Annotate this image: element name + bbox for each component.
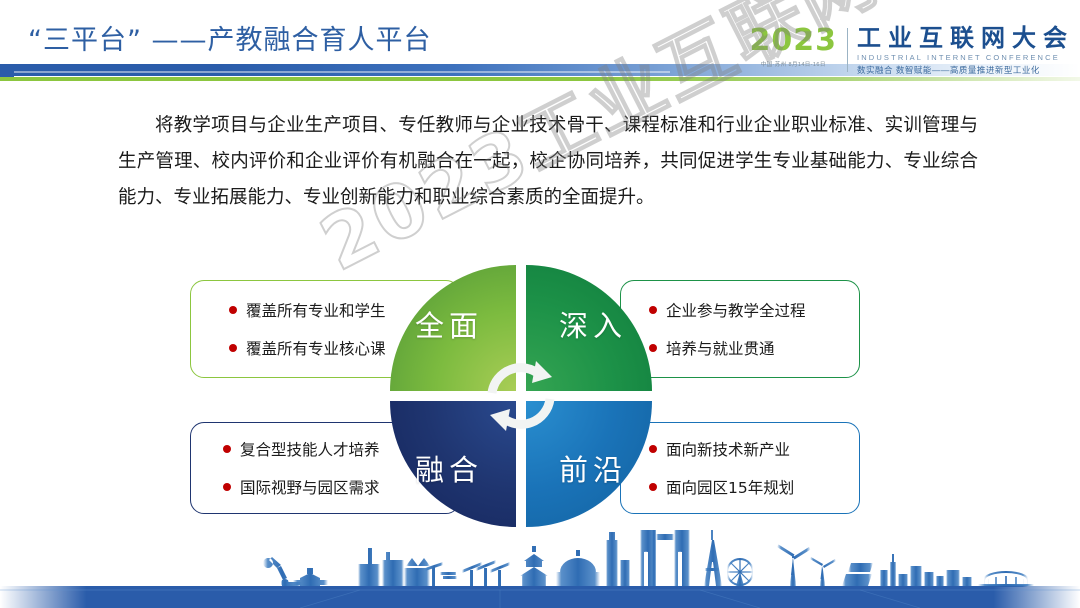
list-item-label: 企业参与教学全过程	[666, 299, 806, 321]
bullet-dot-icon	[229, 344, 237, 352]
quadrant-wheel: 全面 深入 融合 前沿	[390, 265, 652, 527]
bullet-dot-icon	[223, 483, 231, 491]
logo-tagline: 数实融合 数智赋能——高质量推进新型工业化	[857, 64, 1074, 76]
city-skyline-decoration	[0, 528, 1080, 608]
bullet-dot-icon	[229, 306, 237, 314]
logo-date: 中国·苏州 8月14日-16日	[750, 60, 838, 68]
logo-divider	[847, 28, 848, 72]
conference-logo: 2023 中国·苏州 8月14日-16日 工业互联网大会 INDUSTRIAL …	[750, 26, 1075, 76]
list-item-label: 国际视野与园区需求	[240, 476, 380, 498]
list-item-label: 培养与就业贯通	[666, 337, 775, 359]
body-paragraph: 将教学项目与企业生产项目、专任教师与企业技术骨干、课程标准和行业企业职业标准、实…	[118, 108, 978, 216]
quadrant-shenru[interactable]: 深入	[526, 265, 652, 391]
quadrant-quanmian[interactable]: 全面	[390, 265, 516, 391]
list-item: 企业参与教学全过程	[649, 299, 845, 321]
list-item: 面向园区15年规划	[649, 476, 845, 498]
logo-name-cn: 工业互联网大会	[857, 26, 1074, 51]
logo-name-en: INDUSTRIAL INTERNET CONFERENCE	[857, 53, 1074, 62]
presentation-slide: “三平台” ——产教融合育人平台 2023 中国·苏州 8月14日-16日 工业…	[0, 0, 1080, 608]
quadrant-label: 融合	[415, 447, 483, 489]
quadrant-label: 前沿	[559, 447, 627, 489]
logo-name-block: 工业互联网大会 INDUSTRIAL INTERNET CONFERENCE 数…	[857, 26, 1074, 76]
list-item-label: 面向园区15年规划	[666, 476, 794, 498]
list-item-label: 覆盖所有专业核心课	[246, 337, 386, 359]
header-rule-green	[0, 77, 1080, 81]
list-item-label: 面向新技术新产业	[666, 438, 790, 460]
quadrant-label: 全面	[415, 303, 483, 345]
footer-band	[0, 586, 1080, 608]
bullet-dot-icon	[223, 445, 231, 453]
page-title: “三平台” ——产教融合育人平台	[28, 18, 432, 57]
list-item-label: 覆盖所有专业和学生	[246, 299, 386, 321]
callout-shenru: 企业参与教学全过程 培养与就业贯通	[620, 280, 860, 378]
four-quadrant-diagram: 覆盖所有专业和学生 覆盖所有专业核心课 企业参与教学全过程 培养与就业贯通 复合…	[0, 258, 1080, 538]
list-item-label: 复合型技能人才培养	[240, 438, 380, 460]
list-item: 培养与就业贯通	[649, 337, 845, 359]
list-item: 面向新技术新产业	[649, 438, 845, 460]
callout-qianyan: 面向新技术新产业 面向园区15年规划	[620, 422, 860, 514]
quadrant-qianyan[interactable]: 前沿	[526, 401, 652, 527]
quadrant-ronghe[interactable]: 融合	[390, 401, 516, 527]
quadrant-label: 深入	[559, 303, 627, 345]
skyline-silhouette	[263, 530, 1034, 587]
logo-year: 2023	[750, 26, 838, 56]
logo-year-block: 2023 中国·苏州 8月14日-16日	[750, 26, 848, 68]
